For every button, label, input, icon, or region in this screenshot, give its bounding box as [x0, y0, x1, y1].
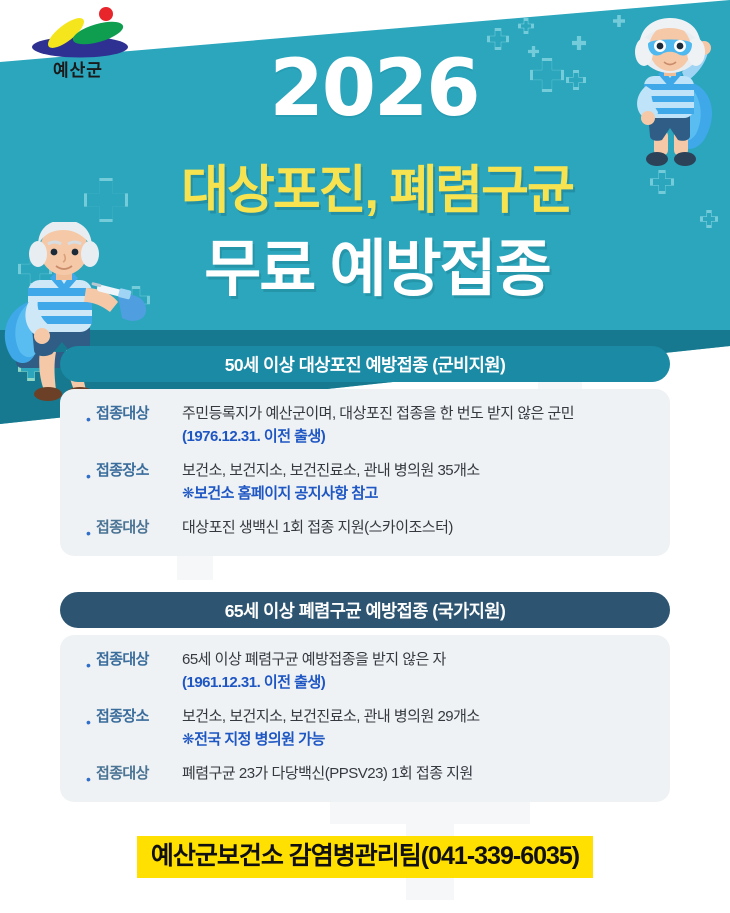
logo-label: 예산군 [22, 56, 134, 81]
plus-icon [518, 18, 534, 34]
info-row-label: 접종대상 [96, 517, 174, 539]
info-row-value: 65세 이상 폐렴구균 예방접종을 받지 않은 자 [182, 649, 652, 671]
logo: 예산군 [22, 6, 142, 84]
info-row: • 접종장소 보건소, 보건지소, 보건진료소, 관내 병의원 29개소 ❋전국… [86, 706, 652, 751]
info-row-note: (1961.12.31. 이전 출생) [182, 671, 652, 694]
section-header-shingles: 50세 이상 대상포진 예방접종 (군비지원) [60, 346, 670, 382]
bullet-icon: • [86, 715, 96, 729]
info-row-values: 보건소, 보건지소, 보건진료소, 관내 병의원 29개소 ❋전국 지정 병의원… [174, 706, 652, 751]
info-row-value: 주민등록지가 예산군이며, 대상포진 접종을 한 번도 받지 않은 군민 [182, 403, 652, 425]
footer-contact: 예산군보건소 감염병관리팀(041-339-6035) [0, 836, 730, 878]
info-row-value: 보건소, 보건지소, 보건진료소, 관내 병의원 35개소 [182, 460, 652, 482]
info-row-values: 폐렴구균 23가 다당백신(PPSV23) 1회 접종 지원 [174, 763, 652, 785]
info-row-label: 접종대상 [96, 763, 174, 785]
bullet-icon: • [86, 526, 96, 540]
info-row-values: 65세 이상 폐렴구균 예방접종을 받지 않은 자 (1961.12.31. 이… [174, 649, 652, 694]
section-header-pneumococcus: 65세 이상 폐렴구균 예방접종 (국가지원) [60, 592, 670, 628]
info-row-value: 보건소, 보건지소, 보건진료소, 관내 병의원 29개소 [182, 706, 652, 728]
yesan-county-emblem-icon [22, 6, 140, 62]
section-shingles: 50세 이상 대상포진 예방접종 (군비지원) • 접종대상 주민등록지가 예산… [60, 346, 670, 556]
info-row-note: (1976.12.31. 이전 출생) [182, 425, 652, 448]
info-row: • 접종대상 65세 이상 폐렴구균 예방접종을 받지 않은 자 (1961.1… [86, 649, 652, 694]
info-row: • 접종장소 보건소, 보건지소, 보건진료소, 관내 병의원 35개소 ❋보건… [86, 460, 652, 505]
info-row-label: 접종장소 [96, 706, 174, 728]
info-row-label: 접종대상 [96, 649, 174, 671]
info-row-label: 접종장소 [96, 460, 174, 482]
bullet-icon: • [86, 412, 96, 426]
info-row-note: ❋보건소 홈페이지 공지사항 참고 [182, 482, 652, 505]
info-row-value: 대상포진 생백신 1회 접종 지원(스카이조스터) [182, 517, 652, 539]
info-row-value: 폐렴구균 23가 다당백신(PPSV23) 1회 접종 지원 [182, 763, 652, 785]
headline-line-2: 무료 예방접종 [0, 218, 730, 308]
section-body-pneumococcus: • 접종대상 65세 이상 폐렴구균 예방접종을 받지 않은 자 (1961.1… [60, 635, 670, 802]
poster-root: 예산군 [0, 0, 730, 913]
info-row: • 접종대상 주민등록지가 예산군이며, 대상포진 접종을 한 번도 받지 않은… [86, 403, 652, 448]
info-row-note: ❋전국 지정 병의원 가능 [182, 728, 652, 751]
info-row-label: 접종대상 [96, 403, 174, 425]
headline-line-1: 대상포진, 폐렴구균 [0, 148, 730, 223]
info-row: • 접종대상 폐렴구균 23가 다당백신(PPSV23) 1회 접종 지원 [86, 763, 652, 786]
info-row-values: 대상포진 생백신 1회 접종 지원(스카이조스터) [174, 517, 652, 539]
bullet-icon: • [86, 658, 96, 672]
info-row-values: 보건소, 보건지소, 보건진료소, 관내 병의원 35개소 ❋보건소 홈페이지 … [174, 460, 652, 505]
section-pneumococcus: 65세 이상 폐렴구균 예방접종 (국가지원) • 접종대상 65세 이상 폐렴… [60, 592, 670, 802]
section-body-shingles: • 접종대상 주민등록지가 예산군이며, 대상포진 접종을 한 번도 받지 않은… [60, 389, 670, 556]
contact-highlight: 예산군보건소 감염병관리팀(041-339-6035) [137, 836, 593, 878]
bullet-icon: • [86, 772, 96, 786]
info-row-values: 주민등록지가 예산군이며, 대상포진 접종을 한 번도 받지 않은 군민 (19… [174, 403, 652, 448]
info-row: • 접종대상 대상포진 생백신 1회 접종 지원(스카이조스터) [86, 517, 652, 540]
bullet-icon: • [86, 469, 96, 483]
